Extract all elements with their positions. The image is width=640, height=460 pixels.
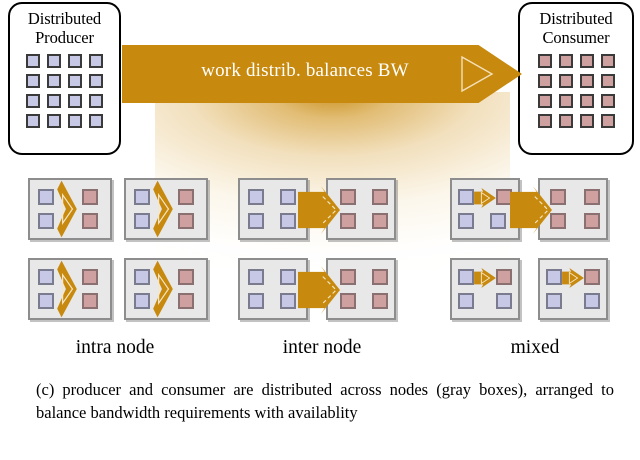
producer-cell <box>458 269 474 285</box>
group-label-mixed: mixed <box>440 337 630 359</box>
consumer-cell <box>538 74 552 88</box>
producer-cell <box>89 54 103 68</box>
group-label-inter-node: inter node <box>232 337 412 359</box>
node-box <box>124 258 208 320</box>
producer-cell <box>47 114 61 128</box>
producer-cell <box>89 74 103 88</box>
producer-cell <box>584 293 600 309</box>
consumer-cell <box>178 293 194 309</box>
consumer-cell <box>82 293 98 309</box>
consumer-cell <box>601 74 615 88</box>
producer-cell <box>496 293 512 309</box>
consumer-cell <box>82 269 98 285</box>
producer-title-line2: Producer <box>10 28 119 47</box>
consumer-cell <box>340 269 356 285</box>
producer-cell <box>546 269 562 285</box>
node-box <box>28 178 112 240</box>
consumer-cell <box>372 293 388 309</box>
node-box <box>450 178 520 240</box>
consumer-title-line1: Distributed <box>520 9 632 28</box>
producer-cell <box>280 293 296 309</box>
consumer-cell <box>580 54 594 68</box>
producer-title-line1: Distributed <box>10 9 119 28</box>
consumer-cell <box>82 189 98 205</box>
consumer-cell <box>496 189 512 205</box>
consumer-cell <box>538 54 552 68</box>
producer-cell <box>89 94 103 108</box>
producer-cell <box>47 54 61 68</box>
producer-cell <box>26 94 40 108</box>
producer-cell <box>68 54 82 68</box>
producer-cell <box>68 74 82 88</box>
consumer-cell <box>559 94 573 108</box>
producer-cell <box>38 213 54 229</box>
producer-cell <box>89 114 103 128</box>
consumer-cell <box>340 213 356 229</box>
producer-cell <box>47 74 61 88</box>
producer-cell <box>546 293 562 309</box>
node-box <box>538 258 608 320</box>
producer-cell <box>38 293 54 309</box>
figure-caption: (c) producer and consumer are distribute… <box>36 378 614 424</box>
consumer-cell <box>340 189 356 205</box>
producer-cell <box>134 189 150 205</box>
consumer-cell <box>178 269 194 285</box>
node-box <box>28 258 112 320</box>
node-box <box>238 258 308 320</box>
producer-cell <box>280 213 296 229</box>
consumer-cell <box>559 74 573 88</box>
consumer-cell <box>559 114 573 128</box>
consumer-cell <box>538 114 552 128</box>
producer-cell <box>26 74 40 88</box>
producer-cell <box>248 189 264 205</box>
producer-cell <box>68 114 82 128</box>
producer-cell <box>248 293 264 309</box>
node-box <box>326 178 396 240</box>
producer-cell <box>280 189 296 205</box>
consumer-cell <box>580 94 594 108</box>
consumer-cell <box>584 269 600 285</box>
consumer-cell <box>496 269 512 285</box>
distributed-producer-box: Distributed Producer <box>8 2 121 155</box>
consumer-cell <box>372 189 388 205</box>
producer-cell <box>134 269 150 285</box>
producer-cell <box>248 213 264 229</box>
consumer-cell <box>178 213 194 229</box>
producer-cell <box>458 213 474 229</box>
consumer-cell <box>550 213 566 229</box>
banner-label: work distrib. balances BW <box>140 60 470 82</box>
group-label-intra-node: intra node <box>20 337 210 359</box>
node-box <box>238 178 308 240</box>
consumer-cell <box>550 189 566 205</box>
consumer-cell <box>580 74 594 88</box>
consumer-cell <box>82 213 98 229</box>
producer-cell <box>248 269 264 285</box>
producer-cell <box>26 114 40 128</box>
consumer-title-line2: Consumer <box>520 28 632 47</box>
producer-cell-grid <box>10 54 119 128</box>
consumer-cell <box>584 189 600 205</box>
consumer-cell <box>559 54 573 68</box>
consumer-cell <box>372 213 388 229</box>
producer-cell <box>68 94 82 108</box>
consumer-cell <box>584 213 600 229</box>
consumer-cell <box>601 94 615 108</box>
producer-cell <box>134 213 150 229</box>
producer-cell <box>490 213 506 229</box>
consumer-cell <box>601 54 615 68</box>
node-box <box>124 178 208 240</box>
producer-cell <box>26 54 40 68</box>
consumer-cell <box>340 293 356 309</box>
producer-cell <box>280 269 296 285</box>
consumer-cell-grid <box>520 54 632 128</box>
distributed-consumer-box: Distributed Consumer <box>518 2 634 155</box>
consumer-cell <box>580 114 594 128</box>
producer-cell <box>47 94 61 108</box>
consumer-cell <box>178 189 194 205</box>
consumer-cell <box>538 94 552 108</box>
producer-cell <box>458 293 474 309</box>
producer-cell <box>38 269 54 285</box>
node-box <box>326 258 396 320</box>
producer-cell <box>134 293 150 309</box>
producer-cell <box>458 189 474 205</box>
consumer-cell <box>372 269 388 285</box>
node-box <box>450 258 520 320</box>
node-box <box>538 178 608 240</box>
consumer-cell <box>601 114 615 128</box>
producer-cell <box>38 189 54 205</box>
